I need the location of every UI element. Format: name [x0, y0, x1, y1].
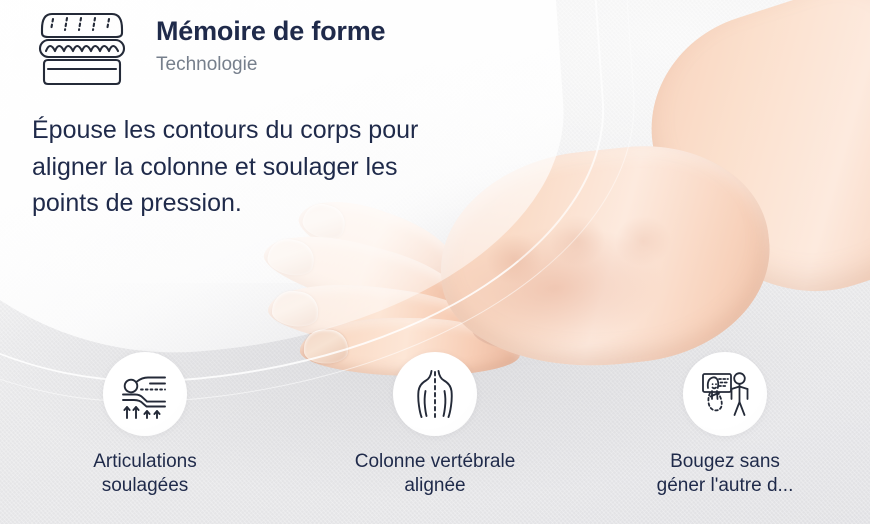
- feature-item-joints: Articulations soulagées: [0, 352, 290, 499]
- feature-list: Articulations soulagées Colonne vertébra…: [0, 352, 870, 499]
- feature-item-motion-isolation: Bougez sans géner l'autre d...: [580, 352, 870, 499]
- feature-label: Bougez sans géner l'autre d...: [657, 450, 794, 499]
- feature-label: Colonne vertébrale alignée: [355, 450, 516, 499]
- spine-alignment-torso-icon: [393, 352, 477, 436]
- feature-label: Articulations soulagées: [93, 450, 197, 499]
- two-people-undisturbed-sleep-icon: [683, 352, 767, 436]
- person-lying-support-arrows-icon: [103, 352, 187, 436]
- page-subtitle: Technologie: [156, 54, 385, 77]
- header: Mémoire de forme Technologie: [26, 8, 385, 90]
- feature-item-spine: Colonne vertébrale alignée: [290, 352, 580, 499]
- product-feature-card: Mémoire de forme Technologie Épouse les …: [0, 0, 870, 524]
- mattress-layers-icon: [26, 8, 138, 90]
- description-text: Épouse les contours du corps pour aligne…: [32, 112, 432, 222]
- page-title: Mémoire de forme: [156, 17, 385, 47]
